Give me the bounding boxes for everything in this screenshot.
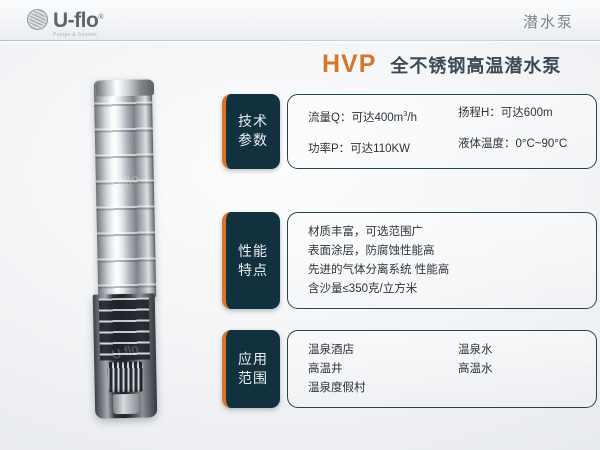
spec-flow-tail: /h <box>407 112 417 124</box>
spec-content-technical: 流量Q：可达400m3/h 扬程H：可达600m 功率P：可达110KW 液体温… <box>287 94 597 169</box>
spec-power-text: 功率P：可达110KW <box>308 143 410 155</box>
suction-strainer <box>107 362 144 393</box>
spec-label-technical: 技术 参数 <box>222 94 280 169</box>
feature-item: 材质丰富，可选范围广 <box>308 224 596 240</box>
application-item: 温泉酒店 <box>308 342 458 358</box>
product-name: 全不锈钢高温潜水泵 <box>390 52 561 78</box>
header-category-label: 潜水泵 <box>523 11 574 32</box>
spec-label-line2: 特点 <box>238 261 268 280</box>
spec-power: 功率P：可达110KW <box>308 137 458 157</box>
application-item: 温泉度假村 <box>308 380 458 396</box>
spec-label-line1: 技术 <box>238 112 268 131</box>
feature-item: 表面涂层，防腐蚀性能高 <box>308 243 596 259</box>
spec-label-line2: 参数 <box>238 131 268 150</box>
spec-label-line1: 应用 <box>238 350 268 369</box>
feature-item: 含沙量≤350克/立方米 <box>308 281 596 297</box>
product-code: HVP <box>322 50 376 79</box>
globe-icon <box>27 9 48 30</box>
application-item: 高温水 <box>458 361 493 377</box>
logo-wordmark-text: U-flo <box>53 9 98 32</box>
spec-row-application: 应用 范围 温泉酒店 高温井 温泉度假村 温泉水 高温水 <box>222 330 597 408</box>
spec-head: 扬程H：可达600m <box>458 106 553 126</box>
pump-base <box>113 394 139 415</box>
product-photo: U-flo U-flo <box>58 62 203 422</box>
spec-row-performance: 性能 特点 材质丰富，可选范围广 表面涂层，防腐蚀性能高 先进的气体分离系统 性… <box>222 212 597 309</box>
logo-wordmark: U-flo® <box>53 9 103 30</box>
page-title: HVP 全不锈钢高温潜水泵 <box>322 50 561 79</box>
spec-kv-line: 流量Q：可达400m3/h 扬程H：可达600m <box>308 106 596 126</box>
application-item: 温泉水 <box>458 342 493 358</box>
spec-flow: 流量Q：可达400m3/h <box>308 106 458 126</box>
spec-temperature: 液体温度：0°C~90°C <box>458 137 567 157</box>
feature-list: 材质丰富，可选范围广 表面涂层，防腐蚀性能高 先进的气体分离系统 性能高 含沙量… <box>308 224 596 297</box>
spec-label-line2: 范围 <box>238 369 268 388</box>
slide-canvas: U-flo® Pumps & System 潜水泵 HVP 全不锈钢高温潜水泵 … <box>0 0 600 450</box>
application-column-right: 温泉水 高温水 <box>458 342 493 396</box>
spec-content-performance: 材质丰富，可选范围广 表面涂层，防腐蚀性能高 先进的气体分离系统 性能高 含沙量… <box>287 212 597 309</box>
application-column-left: 温泉酒店 高温井 温泉度假村 <box>308 342 458 396</box>
application-columns: 温泉酒店 高温井 温泉度假村 温泉水 高温水 <box>308 342 596 396</box>
spec-content-application: 温泉酒店 高温井 温泉度假村 温泉水 高温水 <box>287 330 597 408</box>
pump-top-cap <box>96 79 154 96</box>
spec-label-line1: 性能 <box>238 242 268 261</box>
spec-kv-grid: 流量Q：可达400m3/h 扬程H：可达600m 功率P：可达110KW 液体温… <box>308 106 596 157</box>
spec-kv-line: 功率P：可达110KW 液体温度：0°C~90°C <box>308 137 596 157</box>
spec-flow-text: 流量Q：可达400m <box>308 112 403 124</box>
feature-item: 先进的气体分离系统 性能高 <box>308 262 596 278</box>
spec-row-technical: 技术 参数 流量Q：可达400m3/h 扬程H：可达600m 功率P：可达110… <box>222 94 597 169</box>
spec-label-application: 应用 范围 <box>222 330 280 408</box>
header-divider-shadow <box>0 41 600 44</box>
brand-logo[interactable]: U-flo® Pumps & System <box>27 9 103 30</box>
application-item: 高温井 <box>308 361 458 377</box>
spec-label-performance: 性能 特点 <box>222 212 280 309</box>
logo-tagline: Pumps & System <box>53 32 97 38</box>
registered-mark: ® <box>98 14 103 21</box>
